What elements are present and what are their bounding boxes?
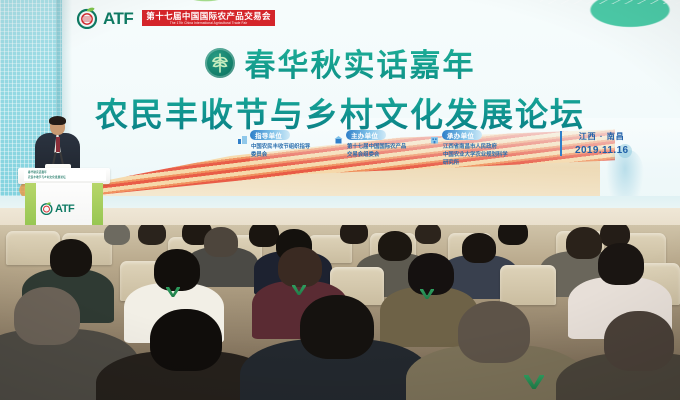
audience-head bbox=[415, 225, 441, 244]
credit-body: 第十七届中国国际农产品 交易会组委会 bbox=[334, 143, 430, 159]
credit-line: 江西省南昌市人民政府 bbox=[443, 143, 526, 151]
audience-head bbox=[204, 227, 238, 257]
credit-block-organizer: 主办单位 第十七届中国国际农产品 交易会组委会 bbox=[334, 130, 430, 159]
catf-wordmark: ATF bbox=[103, 10, 133, 27]
catf-red-banner-en: The 17th China International Agricultura… bbox=[170, 22, 248, 25]
credit-head: 主办单位 bbox=[334, 130, 430, 140]
credit-line: 研究所 bbox=[443, 159, 526, 167]
credits-row: 指导单位 中国农民丰收节组织指导 委员会 主办单位 bbox=[238, 130, 526, 167]
event-meta: 江西 · 南昌 2019.11.16 bbox=[560, 131, 629, 156]
credit-label: 指导单位 bbox=[250, 130, 290, 140]
conference-photo-screenshot: ATF 第十七届中国国际农产品交易会 The 17th China Intern… bbox=[0, 0, 680, 400]
credit-label: 主办单位 bbox=[346, 130, 386, 140]
credit-block-guiding-unit: 指导单位 中国农民丰收节组织指导 委员会 bbox=[238, 130, 334, 159]
audience-head bbox=[566, 227, 602, 259]
title-line2-row: 农民丰收节与乡村文化发展论坛 bbox=[0, 88, 680, 136]
audience-head bbox=[604, 311, 674, 371]
audience-head bbox=[498, 225, 528, 245]
audience-head bbox=[408, 253, 454, 295]
credit-head: 指导单位 bbox=[238, 130, 334, 140]
audience-head bbox=[150, 309, 222, 371]
speaker-hair bbox=[49, 116, 66, 125]
catf-header-logo: ATF 第十七届中国国际农产品交易会 The 17th China Intern… bbox=[76, 7, 275, 29]
audience-head bbox=[300, 295, 374, 359]
audience-head bbox=[14, 287, 80, 345]
credit-line: 第十七届中国国际农产品 bbox=[347, 143, 430, 151]
credit-body: 江西省南昌市人民政府 中国农业大学农业规划科学 研究所 bbox=[430, 143, 526, 167]
audience-head bbox=[104, 225, 130, 245]
chair bbox=[500, 265, 556, 305]
audience-head bbox=[378, 231, 412, 261]
organizer-icon bbox=[334, 131, 343, 140]
credit-line: 中国农业大学农业规划科学 bbox=[443, 151, 526, 159]
catf-orange-mark-icon bbox=[76, 7, 98, 29]
guiding-unit-icon bbox=[238, 131, 247, 140]
podium-wordmark: ATF bbox=[55, 203, 74, 215]
backdrop-title-block: 春华秋实话嘉年 农民丰收节与乡村文化发展论坛 bbox=[0, 40, 680, 136]
credit-label: 承办单位 bbox=[442, 130, 482, 140]
credit-line: 委员会 bbox=[251, 151, 334, 159]
credit-line: 中国农民丰收节组织指导 bbox=[251, 143, 334, 151]
event-location: 江西 · 南昌 bbox=[575, 131, 629, 142]
credit-body: 中国农民丰收节组织指导 委员会 bbox=[238, 143, 334, 159]
page-title-line1: 春华秋实话嘉年 bbox=[245, 40, 476, 85]
podium-speaker bbox=[33, 118, 81, 174]
audience-head bbox=[50, 239, 92, 277]
podium-catf-logo: ATF bbox=[40, 202, 74, 215]
audience-head bbox=[340, 225, 368, 244]
audience-head bbox=[249, 225, 279, 247]
podium-sign-line: 农民丰收节与乡村文化发展论坛 bbox=[28, 176, 106, 180]
wheat-leaf-seal-icon bbox=[205, 48, 235, 78]
audience-head bbox=[458, 301, 530, 363]
catf-orange-mark-icon bbox=[40, 202, 53, 215]
foliage-line-texture bbox=[540, 0, 680, 4]
catf-red-banner-cn: 第十七届中国国际农产品交易会 bbox=[146, 12, 271, 21]
audience-head bbox=[598, 243, 644, 285]
audience-head bbox=[154, 249, 200, 291]
podium-name-sign: 春华秋实话嘉年 农民丰收节与乡村文化发展论坛 bbox=[24, 170, 106, 181]
event-date: 2019.11.16 bbox=[575, 145, 629, 156]
credit-block-host-unit: 承办单位 江西省南昌市人民政府 中国农业大学农业规划科学 研究所 bbox=[430, 130, 526, 167]
host-unit-icon bbox=[430, 131, 439, 140]
audience-head bbox=[138, 225, 166, 245]
audience-head bbox=[462, 233, 496, 263]
page-title-line2: 农民丰收节与乡村文化发展论坛 bbox=[95, 96, 585, 133]
audience-seating bbox=[0, 225, 680, 400]
credit-head: 承办单位 bbox=[430, 130, 526, 140]
audience-head bbox=[278, 247, 322, 287]
credit-line: 交易会组委会 bbox=[347, 151, 430, 159]
speaker-tie bbox=[56, 137, 60, 152]
title-line1-row: 春华秋实话嘉年 bbox=[0, 40, 680, 85]
catf-red-banner: 第十七届中国国际农产品交易会 The 17th China Internatio… bbox=[142, 10, 275, 26]
